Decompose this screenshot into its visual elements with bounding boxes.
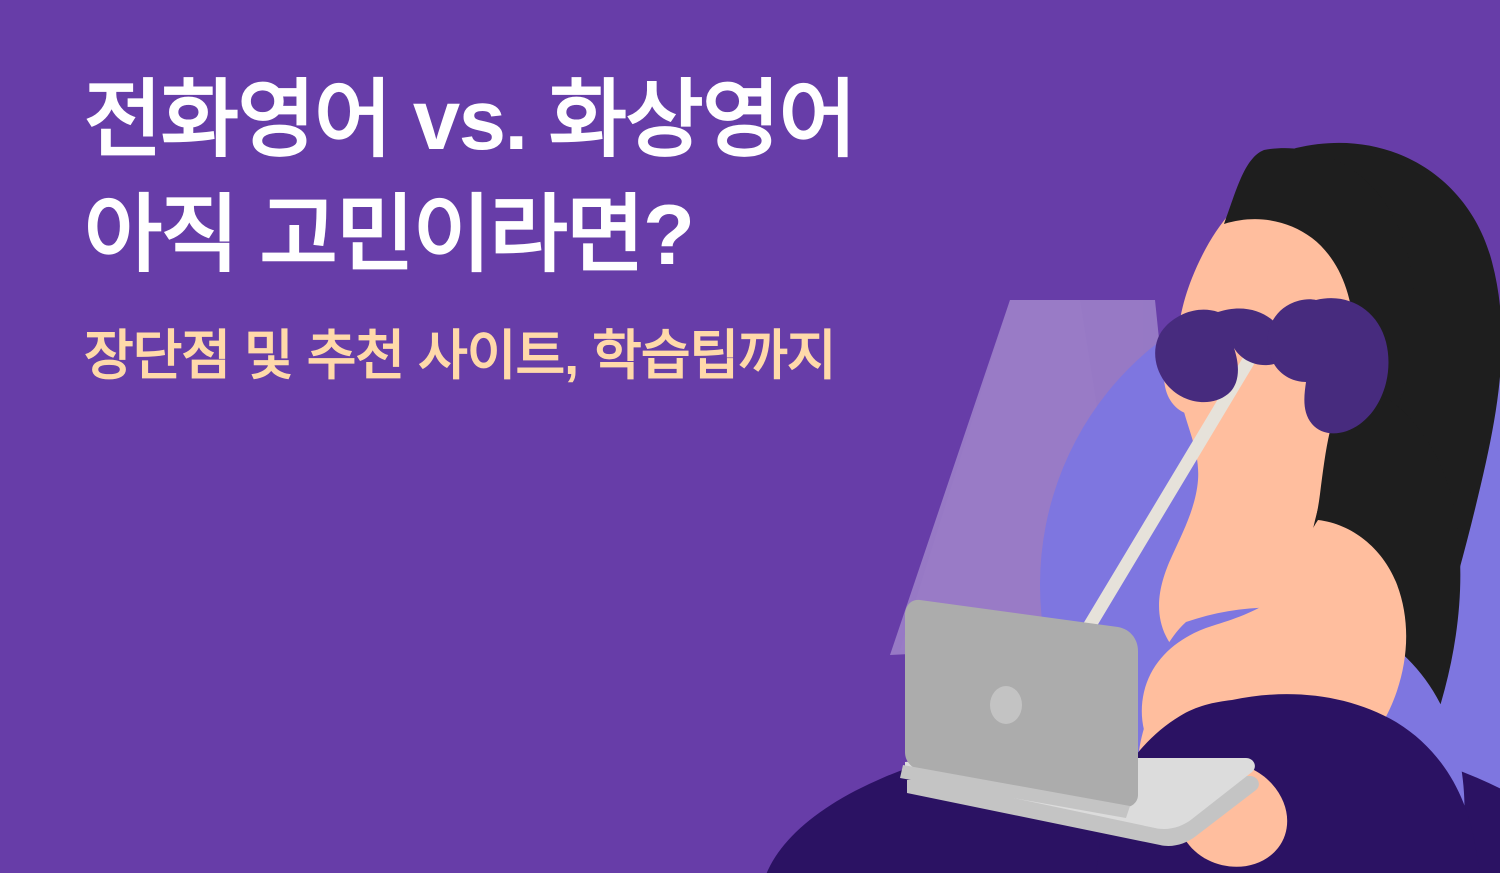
laptop-logo-icon — [990, 686, 1022, 724]
promo-banner: 전화영어 vs. 화상영어 아직 고민이라면? 장단점 및 추천 사이트, 학습… — [0, 0, 1500, 873]
page-subtitle: 장단점 및 추천 사이트, 학습팁까지 — [84, 327, 964, 386]
page-title-line-1: 전화영어 vs. 화상영어 — [84, 78, 964, 165]
headline-block: 전화영어 vs. 화상영어 아직 고민이라면? 장단점 및 추천 사이트, 학습… — [84, 78, 964, 387]
page-title-line-2: 아직 고민이라면? — [84, 193, 964, 280]
